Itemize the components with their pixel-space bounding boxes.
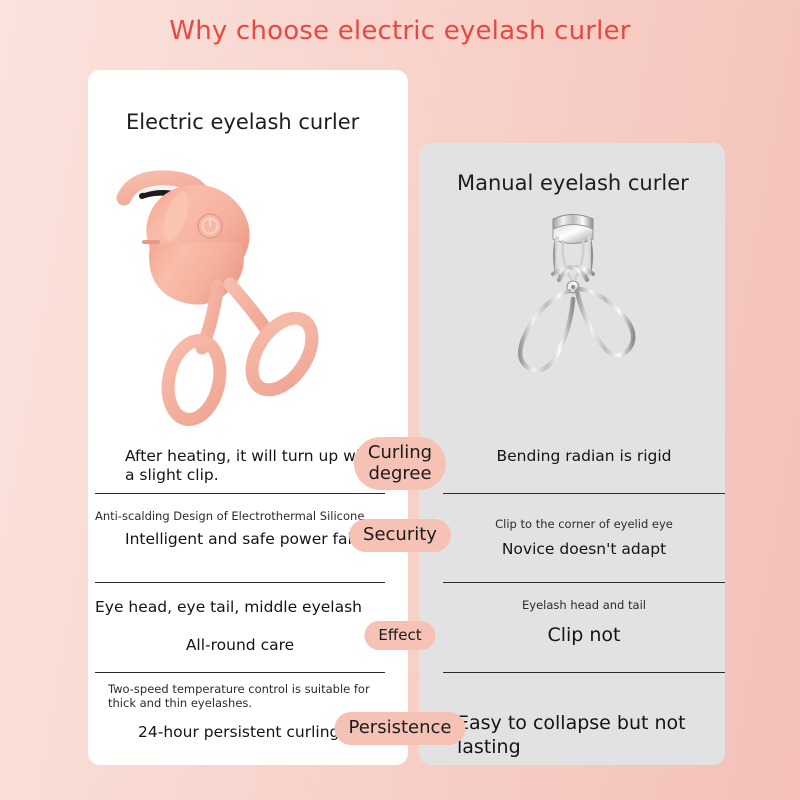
electric-card-heading: Electric eyelash curler bbox=[126, 110, 359, 134]
row-right-big: Easy to collapse but not lasting bbox=[457, 712, 739, 760]
row-divider-right bbox=[443, 672, 725, 673]
page-title: Why choose electric eyelash curler bbox=[0, 16, 800, 46]
badge-persistence: Persistence bbox=[335, 712, 466, 745]
row-right-cell: Easy to collapse but not lasting bbox=[457, 712, 739, 760]
row-left-big: Intelligent and safe power failure bbox=[95, 530, 385, 549]
row-left-cell: Anti-scalding Design of Electrothermal S… bbox=[95, 509, 385, 550]
manual-card-heading: Manual eyelash curler bbox=[457, 171, 689, 195]
row-left-cell: After heating, it will turn up with a sl… bbox=[95, 447, 385, 486]
row-divider-right bbox=[443, 493, 725, 494]
row-divider-left bbox=[95, 672, 385, 673]
row-divider-left bbox=[95, 582, 385, 583]
row-right-cell: Eyelash head and tail Clip not bbox=[443, 598, 725, 648]
pink-electric-eyelash-curler-image bbox=[106, 158, 356, 428]
row-left-small: Eye head, eye tail, middle eyelash bbox=[95, 598, 385, 617]
row-right-big: Clip not bbox=[443, 624, 725, 648]
row-right-big: Bending radian is rigid bbox=[443, 447, 725, 466]
row-right-cell: Clip to the corner of eyelid eye Novice … bbox=[443, 517, 725, 560]
silver-manual-eyelash-curler-image bbox=[491, 205, 651, 425]
row-left-big: All-round care bbox=[95, 636, 385, 655]
row-left-big: After heating, it will turn up with a sl… bbox=[95, 447, 385, 486]
row-left-small: Two-speed temperature control is suitabl… bbox=[108, 682, 388, 711]
row-right-small: Eyelash head and tail bbox=[443, 598, 725, 612]
comparison-table: After heating, it will turn up with a sl… bbox=[0, 425, 800, 770]
row-right-small: Clip to the corner of eyelid eye bbox=[443, 517, 725, 531]
badge-effect: Effect bbox=[364, 621, 435, 650]
row-divider-left bbox=[95, 493, 385, 494]
row-right-big: Novice doesn't adapt bbox=[443, 540, 725, 559]
row-left-small: Anti-scalding Design of Electrothermal S… bbox=[95, 509, 385, 523]
badge-security: Security bbox=[349, 519, 451, 552]
badge-curling-degree: Curling degree bbox=[354, 437, 446, 490]
row-right-cell: Bending radian is rigid bbox=[443, 447, 725, 466]
row-divider-right bbox=[443, 582, 725, 583]
row-left-cell: Eye head, eye tail, middle eyelash All-r… bbox=[95, 598, 385, 656]
